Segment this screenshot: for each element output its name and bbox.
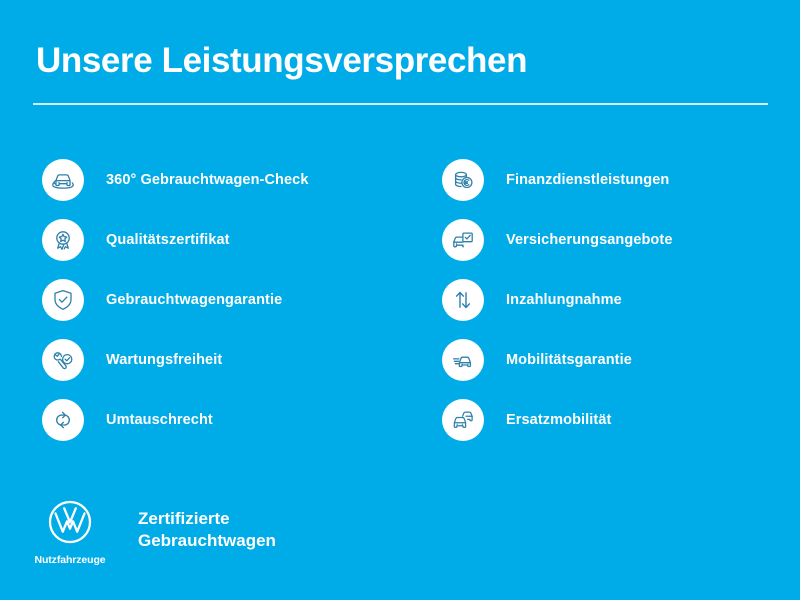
feature-label: 360° Gebrauchtwagen-Check <box>106 172 309 188</box>
feature-label: Wartungsfreiheit <box>106 352 222 368</box>
feature-label: Umtauschrecht <box>106 412 213 428</box>
volkswagen-logo-icon <box>46 498 94 551</box>
feature-item-umtauschrecht[interactable]: Umtauschrecht <box>42 390 400 450</box>
feature-column-right: Finanzdienstleistungen Versicherungsange… <box>400 150 800 450</box>
wrench-check-icon <box>42 339 84 381</box>
feature-label: Ersatzmobilität <box>506 412 611 428</box>
feature-item-mobilitaetsgarantie[interactable]: Mobilitätsgarantie <box>442 330 800 390</box>
exchange-arrows-icon <box>42 399 84 441</box>
feature-label: Finanzdienstleistungen <box>506 172 669 188</box>
feature-label: Qualitätszertifikat <box>106 232 230 248</box>
feature-item-finanzdienstleistungen[interactable]: Finanzdienstleistungen <box>442 150 800 210</box>
feature-item-versicherungsangebote[interactable]: Versicherungsangebote <box>442 210 800 270</box>
page-title: Unsere Leistungsversprechen <box>36 42 527 81</box>
feature-label: Inzahlungnahme <box>506 292 622 308</box>
shield-check-icon <box>42 279 84 321</box>
brand-mark: Nutzfahrzeuge <box>36 498 104 566</box>
feature-item-inzahlungnahme[interactable]: Inzahlungnahme <box>442 270 800 330</box>
brand-footer: Nutzfahrzeuge Zertifizierte Gebrauchtwag… <box>36 498 276 566</box>
feature-label: Versicherungsangebote <box>506 232 673 248</box>
brand-wordmark: Nutzfahrzeuge <box>34 554 105 566</box>
feature-item-ersatzmobilitaet[interactable]: Ersatzmobilität <box>442 390 800 450</box>
arrows-up-down-icon <box>442 279 484 321</box>
feature-item-wartungsfreiheit[interactable]: Wartungsfreiheit <box>42 330 400 390</box>
features-section: 360° Gebrauchtwagen-Check Qualitätszerti… <box>0 150 800 450</box>
award-rosette-icon <box>42 219 84 261</box>
car-360-check-icon <box>42 159 84 201</box>
feature-item-360-check[interactable]: 360° Gebrauchtwagen-Check <box>42 150 400 210</box>
car-motion-icon <box>442 339 484 381</box>
feature-item-qualitaetszertifikat[interactable]: Qualitätszertifikat <box>42 210 400 270</box>
feature-item-gebrauchtwagengarantie[interactable]: Gebrauchtwagengarantie <box>42 270 400 330</box>
car-clipboard-check-icon <box>442 219 484 261</box>
title-divider <box>33 103 768 105</box>
feature-label: Mobilitätsgarantie <box>506 352 632 368</box>
feature-column-left: 360° Gebrauchtwagen-Check Qualitätszerti… <box>0 150 400 450</box>
two-cars-icon <box>442 399 484 441</box>
coins-euro-icon <box>442 159 484 201</box>
feature-label: Gebrauchtwagengarantie <box>106 292 282 308</box>
brand-claim: Zertifizierte Gebrauchtwagen <box>138 508 276 552</box>
